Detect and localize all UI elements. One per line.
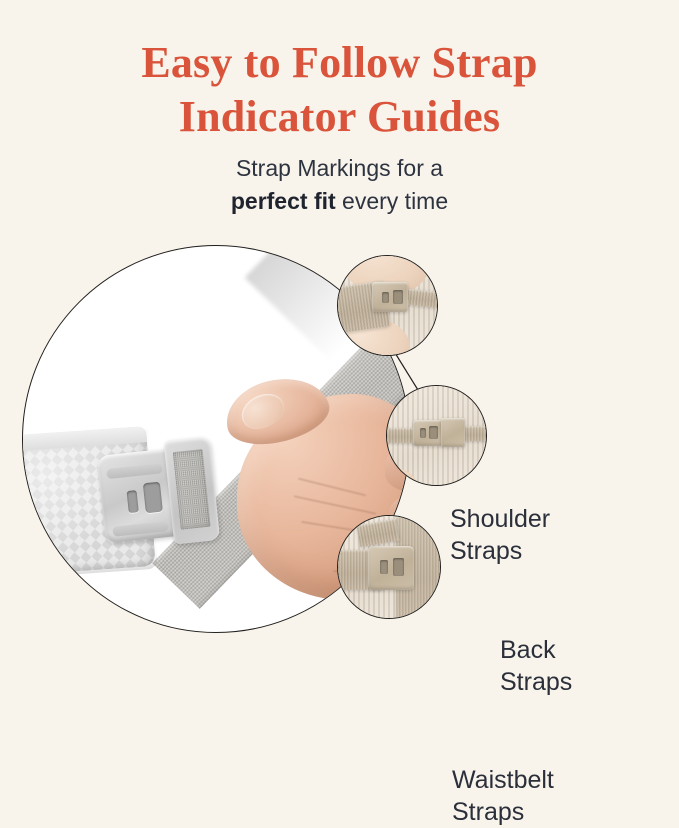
waistbelt-buckle: [368, 546, 414, 590]
detail-circle-shoulder: [337, 255, 438, 356]
shoulder-strap-closeup-photo: [338, 256, 437, 355]
buckle-slot: [420, 428, 426, 438]
page-subtitle: Strap Markings for a perfect fit every t…: [0, 152, 679, 217]
back-buckle-female: [413, 420, 443, 446]
side-release-buckle: [96, 436, 218, 551]
illustration-stage: Shoulder Straps Back Straps Waistbelt St…: [0, 230, 679, 650]
buckle-slot: [393, 290, 403, 304]
skin-crease: [294, 495, 377, 514]
buckle-slot: [380, 560, 388, 574]
page-title: Easy to Follow Strap Indicator Guides: [0, 36, 679, 143]
infographic-page: Easy to Follow Strap Indicator Guides St…: [0, 0, 679, 679]
back-strap-closeup-photo: [387, 386, 486, 485]
label-back-straps: Back Straps: [500, 634, 572, 698]
buckle-ridge: [112, 521, 169, 537]
waistbelt-strap-tail: [356, 519, 399, 548]
detail-circle-back: [386, 385, 487, 486]
subtitle-line-2: perfect fit every time: [0, 185, 679, 218]
buckle-slot: [393, 558, 404, 576]
buckle-ridge: [106, 463, 163, 479]
buckle-slot: [127, 490, 139, 513]
label-waistbelt-straps: Waistbelt Straps: [452, 764, 554, 828]
skin-crease: [298, 478, 366, 497]
skin-region: [386, 468, 417, 486]
subtitle-line-1: Strap Markings for a: [236, 155, 443, 181]
thumbnail: [236, 387, 290, 435]
subtitle-emphasis: perfect fit: [231, 188, 336, 214]
detail-circle-waistbelt: [337, 515, 441, 619]
waistbelt-strap-closeup-photo: [338, 516, 440, 618]
buckle-slot: [382, 292, 389, 303]
label-shoulder-straps: Shoulder Straps: [450, 503, 550, 567]
buckle-slot: [143, 482, 163, 514]
back-buckle-male: [441, 418, 465, 447]
buckle-slot: [429, 426, 438, 439]
subtitle-tail: every time: [336, 188, 448, 214]
